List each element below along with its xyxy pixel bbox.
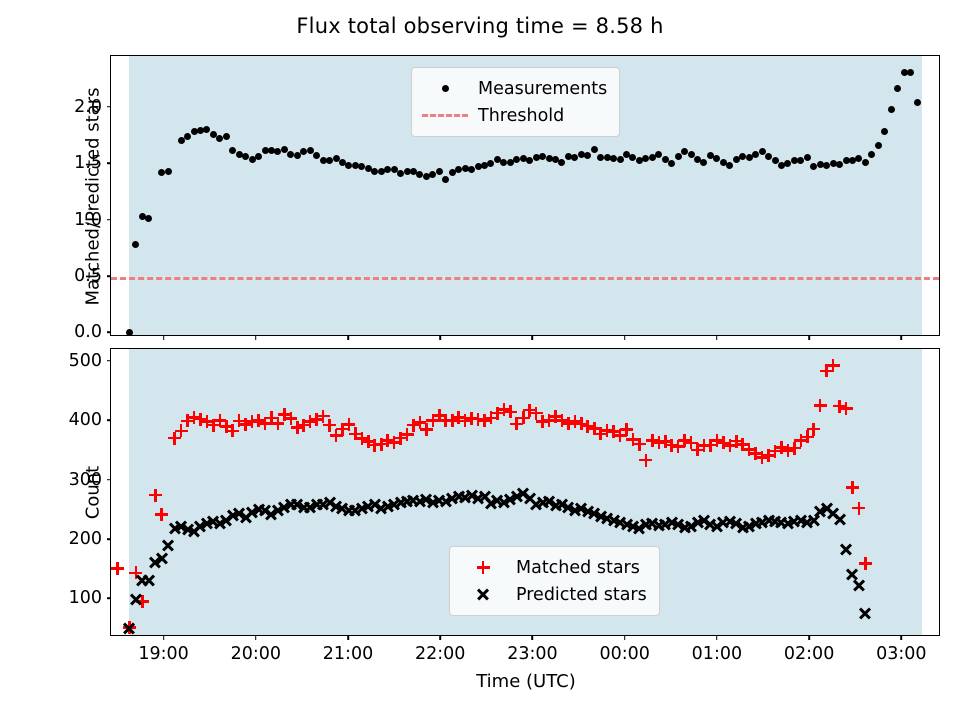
data-point (836, 161, 843, 168)
data-point (313, 152, 320, 159)
y-tick-label: 1.5 (74, 153, 102, 173)
data-point (617, 156, 624, 163)
data-point (442, 176, 449, 183)
data-point (223, 133, 230, 140)
data-point (862, 159, 869, 166)
x-tick-label: 03:00 (876, 644, 926, 664)
y-tick-label: 100 (69, 588, 102, 608)
y-tick-label: 2.0 (74, 97, 102, 117)
y-tick-mark (107, 419, 112, 421)
data-point (868, 151, 875, 158)
x-axis-label: Time (UTC) (111, 671, 941, 692)
data-point (255, 153, 262, 160)
y-tick-mark (107, 598, 112, 600)
y-tick-mark (107, 360, 112, 362)
y-tick-mark (107, 538, 112, 540)
data-point (668, 160, 675, 167)
data-point (804, 154, 811, 161)
x-tick-label: 19:00 (138, 644, 188, 664)
data-point (165, 168, 172, 175)
legend-ratio-panel: Measurements Threshold (411, 67, 620, 137)
matched-stars-marker-icon (460, 558, 506, 578)
legend-item-measurements[interactable]: Measurements (422, 75, 607, 102)
x-tick-mark (624, 335, 626, 340)
data-point (436, 168, 443, 175)
y-tick-label: 1.0 (74, 210, 102, 230)
legend-count-panel: Matched stars Predicted stars (449, 546, 660, 616)
measurements-marker-icon (422, 79, 468, 99)
legend-label-threshold: Threshold (478, 106, 564, 126)
x-tick-mark (901, 335, 903, 340)
x-tick-mark (163, 635, 165, 640)
x-tick-label: 01:00 (692, 644, 742, 664)
x-tick-label: 21:00 (323, 644, 373, 664)
x-tick-mark (808, 335, 810, 340)
data-point (184, 133, 191, 140)
x-tick-mark (532, 335, 534, 340)
axes-ratio-panel: Matched/Predicted stars 0.00.51.01.52.0 … (110, 55, 940, 336)
x-tick-mark (716, 335, 718, 340)
y-tick-mark (107, 479, 112, 481)
y-tick-label: 0.0 (74, 322, 102, 342)
data-point (875, 142, 882, 149)
threshold-marker-icon (422, 106, 468, 126)
x-tick-label: 00:00 (599, 644, 649, 664)
x-tick-label: 23:00 (507, 644, 557, 664)
data-point (126, 329, 133, 335)
x-tick-label: 22:00 (415, 644, 465, 664)
y-tick-mark (107, 106, 112, 108)
legend-label-measurements: Measurements (478, 79, 607, 99)
y-tick-label: 500 (69, 351, 102, 371)
x-tick-label: 02:00 (784, 644, 834, 664)
x-tick-mark (163, 335, 165, 340)
x-tick-mark (624, 635, 626, 640)
x-tick-mark (532, 635, 534, 640)
y-tick-label: 200 (69, 529, 102, 549)
data-point (914, 99, 921, 106)
legend-item-threshold[interactable]: Threshold (422, 102, 607, 129)
x-tick-mark (808, 635, 810, 640)
y-tick-label: 300 (69, 470, 102, 490)
x-tick-mark (347, 635, 349, 640)
figure-canvas: Flux total observing time = 8.58 h Match… (0, 0, 960, 720)
data-point (591, 146, 598, 153)
x-tick-mark (439, 635, 441, 640)
legend-label-matched-stars: Matched stars (516, 558, 640, 578)
y-tick-mark (107, 332, 112, 334)
threshold-line (111, 277, 939, 280)
y-tick-mark (107, 275, 112, 277)
x-tick-label: 20:00 (231, 644, 281, 664)
data-point (675, 153, 682, 160)
y-tick-mark (107, 162, 112, 164)
data-point (688, 151, 695, 158)
figure-title: Flux total observing time = 8.58 h (0, 14, 960, 38)
y-tick-mark (107, 219, 112, 221)
x-tick-mark (347, 335, 349, 340)
legend-item-predicted-stars[interactable]: Predicted stars (460, 581, 647, 608)
legend-item-matched-stars[interactable]: Matched stars (460, 554, 647, 581)
x-tick-mark (255, 335, 257, 340)
axes-count-panel: Count 10020030040050019:0020:0021:0022:0… (110, 348, 940, 636)
x-tick-mark (439, 335, 441, 340)
data-point (655, 151, 662, 158)
x-tick-mark (716, 635, 718, 640)
x-tick-mark (255, 635, 257, 640)
y-axis-label-count: Count (83, 363, 104, 623)
predicted-stars-marker-icon (460, 585, 506, 605)
legend-label-predicted-stars: Predicted stars (516, 585, 647, 605)
data-point (765, 153, 772, 160)
y-tick-label: 400 (69, 410, 102, 430)
data-point (888, 106, 895, 113)
x-tick-mark (901, 635, 903, 640)
y-tick-label: 0.5 (74, 266, 102, 286)
